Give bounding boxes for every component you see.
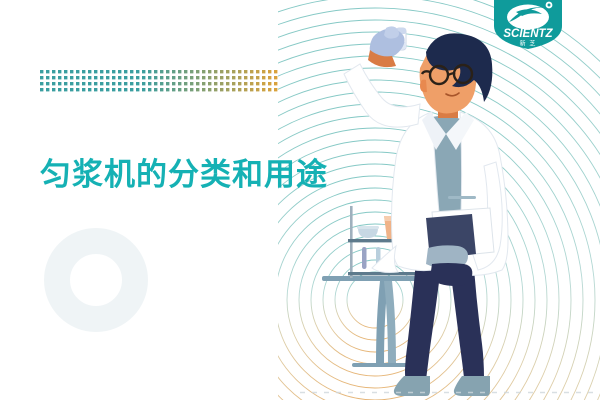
grid-dot: [118, 88, 121, 91]
grid-dot: [238, 82, 241, 85]
grid-dot: [250, 88, 253, 91]
grid-dot: [202, 70, 205, 73]
grid-dot: [118, 70, 121, 73]
grid-dot: [202, 76, 205, 79]
grid-dot: [130, 88, 133, 91]
scientz-shield-logo[interactable]: SCIENTZ 新 芝: [492, 0, 564, 50]
grid-dot: [142, 82, 145, 85]
grid-dot: [190, 70, 193, 73]
grid-dot: [148, 82, 151, 85]
grid-dot: [82, 76, 85, 79]
grid-dot: [274, 70, 277, 73]
grid-dot: [136, 88, 139, 91]
grid-dot: [88, 82, 91, 85]
grid-dot: [190, 76, 193, 79]
grid-dot: [202, 88, 205, 91]
grid-dot: [226, 76, 229, 79]
grid-dot: [184, 88, 187, 91]
grid-dot: [166, 82, 169, 85]
grid-dot: [232, 82, 235, 85]
grid-dot: [64, 88, 67, 91]
grid-dot: [58, 76, 61, 79]
scientist-illustration: [300, 0, 600, 400]
grid-dot: [112, 88, 115, 91]
grid-dot: [130, 76, 133, 79]
grid-dot: [214, 70, 217, 73]
grid-dot: [262, 76, 265, 79]
grid-dot: [100, 88, 103, 91]
grid-dot: [244, 76, 247, 79]
grid-dot: [220, 82, 223, 85]
grid-dot: [118, 82, 121, 85]
grid-dot: [232, 88, 235, 91]
grid-dot: [46, 76, 49, 79]
grid-dot: [76, 70, 79, 73]
grid-dot: [166, 76, 169, 79]
grid-dot: [112, 82, 115, 85]
scientist-head: [420, 33, 493, 118]
grid-dot: [190, 88, 193, 91]
grid-dot: [88, 76, 91, 79]
grid-dot: [136, 82, 139, 85]
grid-dot: [214, 88, 217, 91]
grid-dot: [94, 76, 97, 79]
grid-dot: [184, 70, 187, 73]
donut-ring: [44, 228, 148, 332]
scientist-forearm: [426, 245, 472, 286]
grid-dot: [208, 88, 211, 91]
grid-dot: [46, 82, 49, 85]
grid-dot: [208, 70, 211, 73]
gloved-hand: [368, 26, 405, 67]
grid-dot: [112, 70, 115, 73]
grid-dot: [112, 76, 115, 79]
grid-dot: [250, 76, 253, 79]
grid-dot: [184, 76, 187, 79]
dot-grid: [40, 70, 280, 96]
grid-dot: [172, 70, 175, 73]
grid-dot: [124, 70, 127, 73]
grid-dot: [256, 88, 259, 91]
grid-dot: [52, 76, 55, 79]
grid-dot: [238, 76, 241, 79]
grid-dot: [256, 82, 259, 85]
grid-dot: [70, 88, 73, 91]
grid-dot: [172, 76, 175, 79]
grid-dot: [94, 70, 97, 73]
grid-dot: [238, 70, 241, 73]
grid-dot: [82, 88, 85, 91]
grid-dot: [40, 82, 43, 85]
grid-dot: [250, 82, 253, 85]
grid-dot: [106, 76, 109, 79]
grid-dot: [100, 82, 103, 85]
grid-dot: [220, 70, 223, 73]
grid-dot: [70, 82, 73, 85]
grid-dot: [142, 76, 145, 79]
grid-dot: [160, 88, 163, 91]
grid-dot: [226, 70, 229, 73]
grid-dot: [178, 76, 181, 79]
grid-dot: [196, 82, 199, 85]
grid-dot: [208, 76, 211, 79]
grid-dot: [40, 76, 43, 79]
grid-dot: [40, 88, 43, 91]
grid-dot: [52, 88, 55, 91]
grid-dot: [136, 70, 139, 73]
grid-dot: [250, 70, 253, 73]
grid-dot: [160, 70, 163, 73]
grid-dot: [268, 82, 271, 85]
grid-dot: [40, 70, 43, 73]
grid-dot: [100, 76, 103, 79]
grid-dot: [70, 76, 73, 79]
baseline-dashes: [300, 391, 600, 394]
grid-dot: [46, 88, 49, 91]
grid-dot: [52, 82, 55, 85]
grid-dot: [142, 88, 145, 91]
grid-dot: [94, 88, 97, 91]
grid-dot: [148, 70, 151, 73]
grid-dot: [232, 76, 235, 79]
grid-dot: [76, 82, 79, 85]
grid-dot: [172, 82, 175, 85]
grid-dot: [64, 82, 67, 85]
grid-dot: [274, 76, 277, 79]
grid-dot: [196, 76, 199, 79]
grid-dot: [154, 76, 157, 79]
grid-dot: [184, 82, 187, 85]
grid-dot: [274, 82, 277, 85]
grid-dot: [226, 88, 229, 91]
grid-dot: [256, 76, 259, 79]
grid-dot: [244, 82, 247, 85]
grid-dot: [244, 88, 247, 91]
grid-dot: [160, 82, 163, 85]
grid-dot: [70, 70, 73, 73]
grid-dot: [106, 70, 109, 73]
grid-dot: [148, 76, 151, 79]
logo-sub-text: 新 芝: [520, 40, 537, 48]
grid-dot: [274, 88, 277, 91]
grid-dot: [166, 70, 169, 73]
grid-dot: [202, 82, 205, 85]
banner-slide: 匀浆机的分类和用途: [0, 0, 600, 400]
grid-dot: [154, 88, 157, 91]
grid-dot: [100, 70, 103, 73]
grid-dot: [238, 88, 241, 91]
grid-dot: [178, 82, 181, 85]
grid-dot: [64, 70, 67, 73]
grid-dot: [94, 82, 97, 85]
grid-dot: [130, 70, 133, 73]
grid-dot: [196, 70, 199, 73]
grid-dot: [148, 88, 151, 91]
grid-dot: [178, 88, 181, 91]
page-title: 匀浆机的分类和用途: [40, 155, 328, 195]
grid-dot: [232, 70, 235, 73]
grid-dot: [244, 70, 247, 73]
grid-dot: [124, 76, 127, 79]
grid-dot: [172, 88, 175, 91]
grid-dot: [154, 70, 157, 73]
grid-dot: [88, 70, 91, 73]
grid-dot: [106, 88, 109, 91]
grid-dot: [220, 76, 223, 79]
grid-dot: [262, 82, 265, 85]
grid-dot: [262, 70, 265, 73]
grid-dot: [76, 76, 79, 79]
grid-dot: [196, 88, 199, 91]
grid-dot: [130, 82, 133, 85]
grid-dot: [58, 88, 61, 91]
grid-dot: [124, 82, 127, 85]
grid-dot: [208, 82, 211, 85]
grid-dot: [106, 82, 109, 85]
grid-dot: [46, 70, 49, 73]
grid-dot: [136, 76, 139, 79]
grid-dot: [178, 70, 181, 73]
grid-dot: [262, 88, 265, 91]
grid-dot: [220, 88, 223, 91]
grid-dot: [82, 82, 85, 85]
grid-dot: [268, 70, 271, 73]
grid-dot: [76, 88, 79, 91]
grid-dot: [214, 82, 217, 85]
grid-dot: [58, 70, 61, 73]
grid-dot: [52, 70, 55, 73]
grid-dot: [64, 76, 67, 79]
grid-dot: [226, 82, 229, 85]
grid-dot: [256, 70, 259, 73]
logo-brand-text: SCIENTZ: [503, 28, 553, 40]
grid-dot: [166, 88, 169, 91]
grid-dot: [124, 88, 127, 91]
grid-dot: [190, 82, 193, 85]
grid-dot: [82, 70, 85, 73]
grid-dot: [268, 76, 271, 79]
grid-dot: [88, 88, 91, 91]
grid-dot: [268, 88, 271, 91]
grid-dot: [142, 70, 145, 73]
grid-dot: [118, 76, 121, 79]
grid-dot: [214, 76, 217, 79]
grid-dot: [160, 76, 163, 79]
grid-dot: [154, 82, 157, 85]
grid-dot: [58, 82, 61, 85]
